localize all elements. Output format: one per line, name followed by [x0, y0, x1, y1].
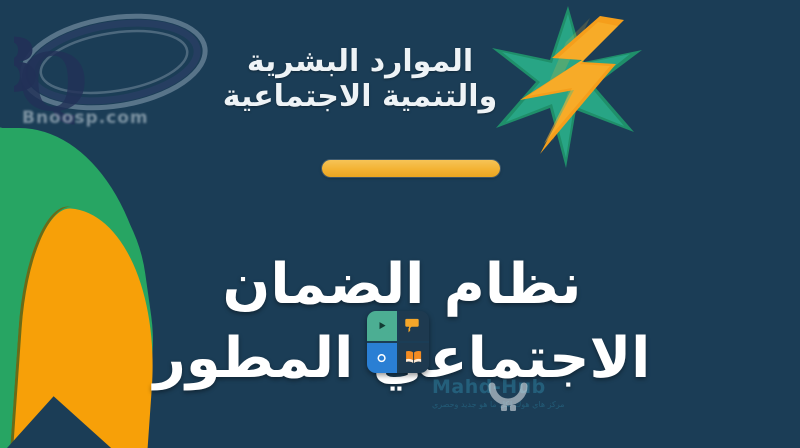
promo-banner: B Q Bnoosp.com الموارد البشرية والتنمية … — [0, 0, 800, 448]
ministry-title-line-1: الموارد البشرية — [220, 44, 500, 79]
ministry-title: الموارد البشرية والتنمية الاجتماعية — [220, 44, 500, 115]
open-book-icon[interactable] — [399, 343, 429, 373]
ministry-title-line-2: والتنمية الاجتماعية — [220, 79, 500, 114]
bq-brand-url: Bnoosp.com — [22, 108, 149, 128]
gold-pill-divider — [322, 160, 500, 177]
chat-bubble-icon[interactable] — [399, 311, 429, 341]
camera-photo-icon[interactable] — [367, 343, 397, 373]
app-icon-badge[interactable] — [367, 311, 429, 373]
ministry-emblem-icon — [478, 2, 658, 172]
play-video-icon[interactable] — [367, 311, 397, 341]
watermark-logo-icon — [482, 372, 534, 424]
